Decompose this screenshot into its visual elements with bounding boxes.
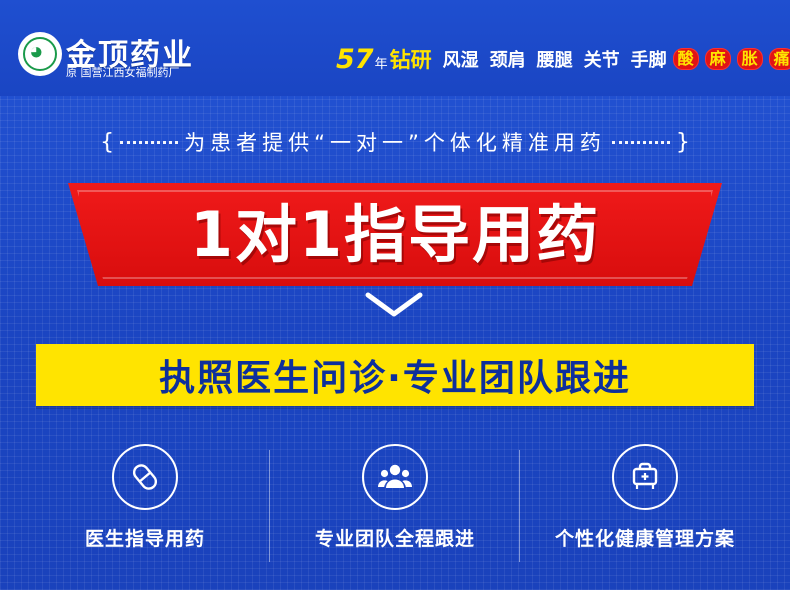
symptom-3: 关节	[584, 46, 620, 72]
red-headline: 1对1指导用药	[68, 183, 722, 286]
symptom-0: 风湿	[443, 46, 479, 72]
feature-row: 医生指导用药 专业团队全程跟进	[20, 440, 770, 575]
brand-factory-line: 原 国营江西女福制药厂	[66, 64, 180, 80]
dashed-slogan-text: 为患者提供“一对一”个体化精准用药	[184, 127, 606, 157]
yellow-subheadline: 执照医生问诊·专业团队跟进	[36, 344, 754, 406]
symptom-1: 颈肩	[490, 46, 526, 72]
symptom-2: 腰腿	[537, 46, 573, 72]
feature-item-2: 个性化健康管理方案	[520, 440, 770, 575]
left-brace: {	[100, 130, 114, 155]
pill-tag-3: 痛	[769, 48, 790, 70]
chevron-down-icon	[364, 292, 424, 318]
people-group-icon	[362, 444, 428, 510]
years-unit: 年	[375, 53, 388, 74]
health-plan-icon	[612, 444, 678, 510]
brand-logo: ◕ 金顶药业 原 国营江西女福制药厂	[14, 30, 229, 86]
red-headline-text: 1对1指导用药	[190, 204, 600, 266]
dashed-slogan-row: { 为患者提供“一对一”个体化精准用药 }	[0, 120, 790, 164]
pill-tag-0: 酸	[673, 48, 699, 70]
promotional-banner: ◕ 金顶药业 原 国营江西女福制药厂 57 年 钻研 风湿 颈肩 腰腿 关节 手…	[0, 0, 790, 590]
banner-top-bar: ◕ 金顶药业 原 国营江西女福制药厂 57 年 钻研 风湿 颈肩 腰腿 关节 手…	[0, 0, 790, 96]
feature-label-0: 医生指导用药	[85, 524, 205, 551]
pill-tag-1: 麻	[705, 48, 731, 70]
right-brace: }	[676, 130, 690, 155]
feature-label-2: 个性化健康管理方案	[555, 524, 735, 551]
left-dots-decoration	[120, 141, 178, 144]
capsule-icon	[112, 444, 178, 510]
pill-tag-2: 胀	[737, 48, 763, 70]
factory-line-text: 原 国营江西女福制药厂	[66, 66, 180, 79]
right-dots-decoration	[612, 141, 670, 144]
symptom-4: 手脚	[631, 46, 667, 72]
top-slogan: 57 年 钻研 风湿 颈肩 腰腿 关节 手脚 酸 麻 胀 痛 僵	[336, 44, 790, 74]
pill-circle-logo-icon: ◕	[18, 32, 62, 76]
research-word: 钻研	[390, 44, 432, 74]
feature-item-1: 专业团队全程跟进	[270, 440, 520, 575]
feature-label-1: 专业团队全程跟进	[315, 524, 475, 551]
feature-item-0: 医生指导用药	[20, 440, 270, 575]
years-number: 57	[336, 46, 374, 73]
yellow-subheadline-text: 执照医生问诊·专业团队跟进	[159, 349, 631, 401]
